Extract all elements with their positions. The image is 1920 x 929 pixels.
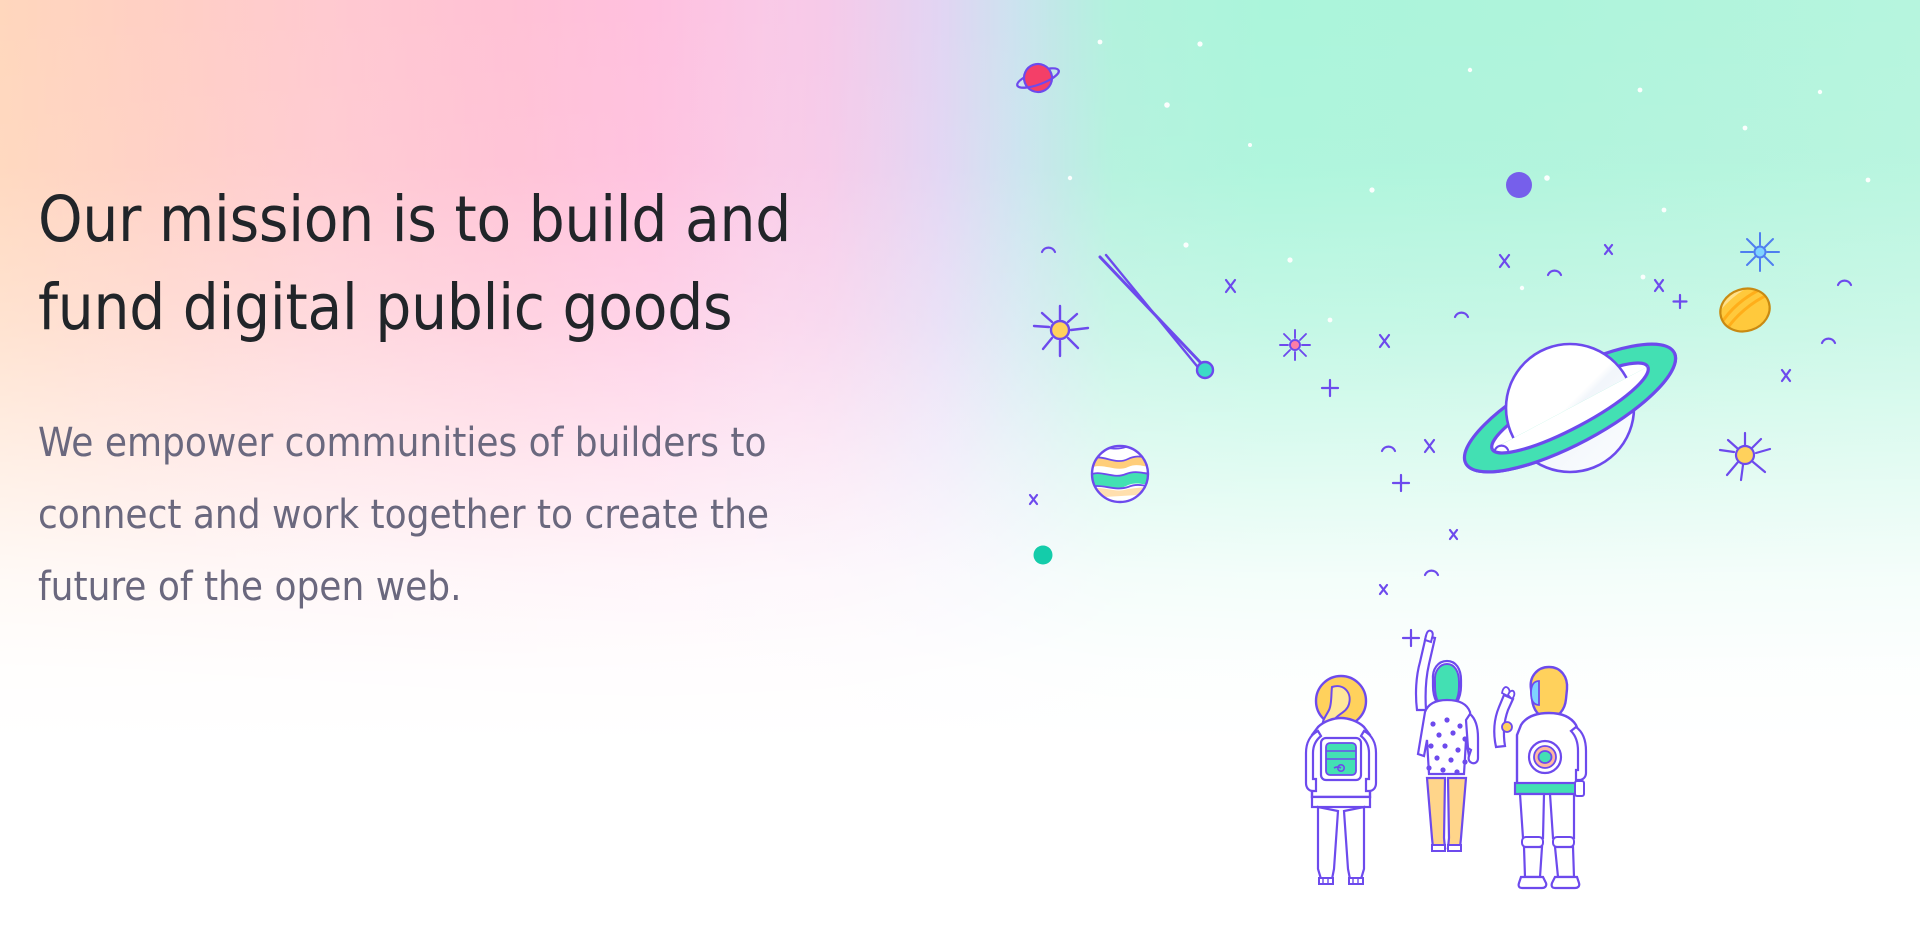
starburst-yellow-left-icon xyxy=(1034,306,1088,356)
starburst-yellow-right-icon xyxy=(1720,433,1770,480)
small-pink-planet-icon xyxy=(1013,57,1064,98)
hero-text-column: Our mission is to build and fund digital… xyxy=(38,176,868,623)
page-title: Our mission is to build and fund digital… xyxy=(38,176,838,352)
purple-dot-planet-icon xyxy=(1506,172,1532,198)
star-dots xyxy=(1045,40,1871,323)
saturn-planet-icon xyxy=(1449,321,1691,495)
space-illustration xyxy=(1000,30,1920,890)
shooting-star-icon xyxy=(1100,255,1213,378)
astronaut-center-icon xyxy=(1416,631,1478,851)
hero-subcopy: We empower communities of builders to co… xyxy=(38,407,828,623)
teal-dot-planet-icon xyxy=(1034,546,1053,565)
astronaut-group xyxy=(1306,631,1586,888)
astronaut-left-icon xyxy=(1306,676,1376,884)
mission-hero-section: Our mission is to build and fund digital… xyxy=(0,0,1920,929)
starburst-blue-icon xyxy=(1741,233,1779,271)
astronaut-right-icon xyxy=(1494,667,1586,888)
striped-planet-icon xyxy=(1088,446,1154,502)
starburst-pink-icon xyxy=(1280,330,1310,360)
swirl-planet-icon xyxy=(1709,278,1780,339)
